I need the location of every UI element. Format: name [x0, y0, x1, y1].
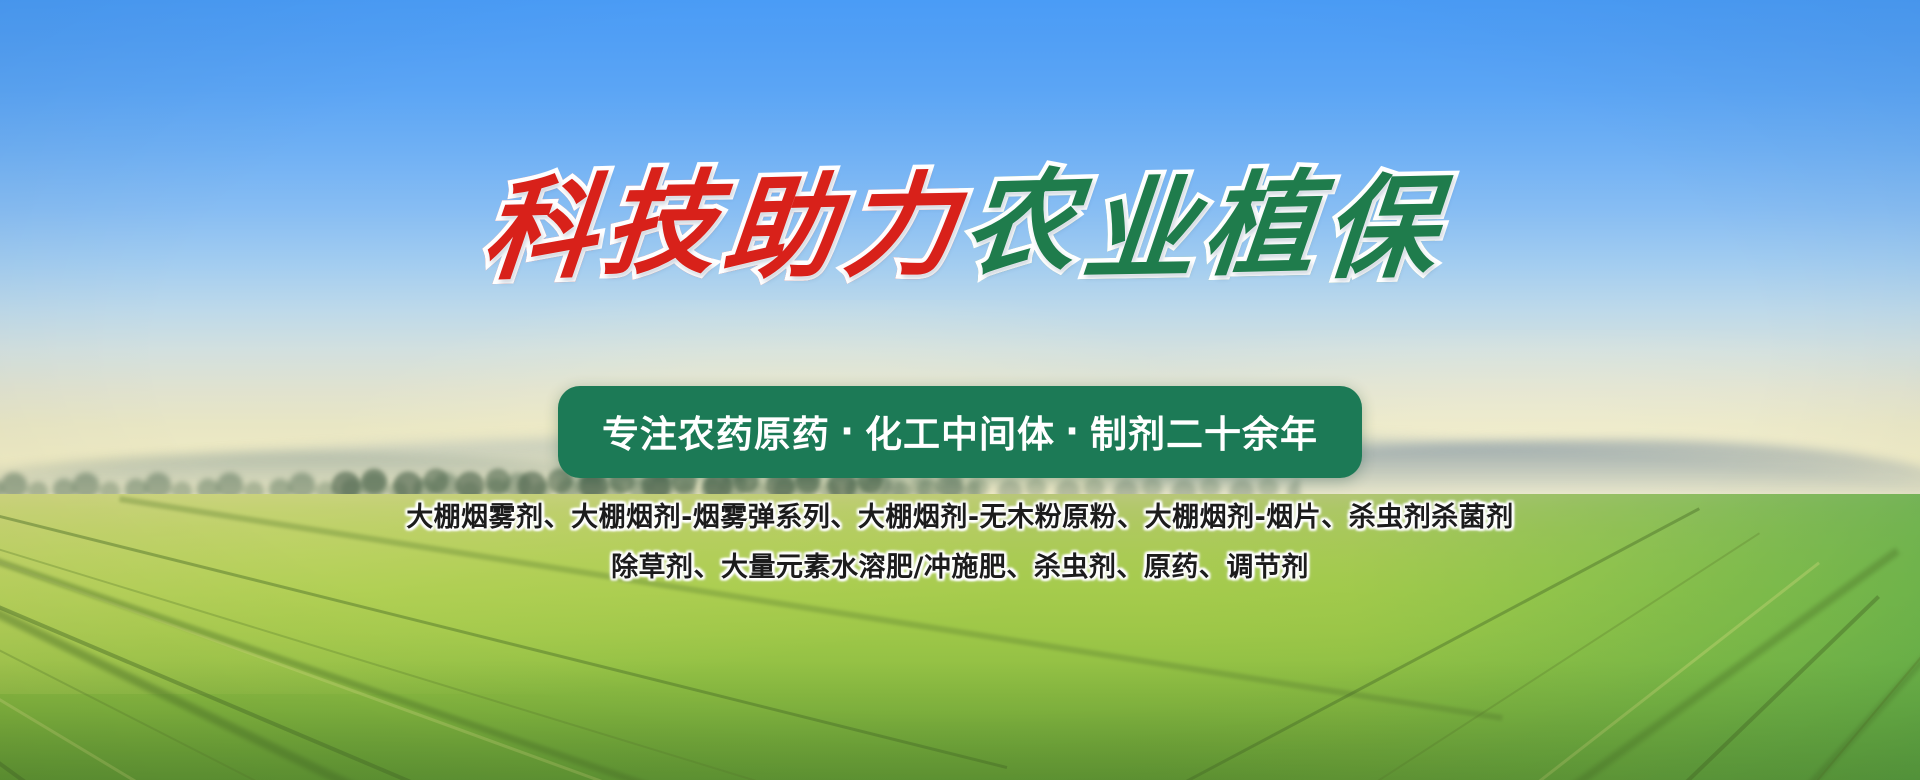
- banner-hero: 科技助力农业植保 专注农药原药·化工中间体·制剂二十余年 大棚烟雾剂、大棚烟剂-…: [0, 0, 1920, 780]
- bullet-separator-icon: ·: [840, 410, 855, 453]
- subtitle-segment: 化工中间体: [865, 413, 1055, 456]
- subtitle-pill: 专注农药原药·化工中间体·制剂二十余年: [558, 386, 1362, 478]
- farmland-field: [0, 494, 1920, 780]
- field-foreground-shadow: [0, 660, 1920, 780]
- subtitle-segment: 制剂二十余年: [1090, 413, 1318, 456]
- bullet-separator-icon: ·: [1065, 410, 1080, 453]
- subtitle-segment: 专注农药原药: [602, 413, 830, 456]
- subtitle-pill-wrapper: 专注农药原药·化工中间体·制剂二十余年: [0, 386, 1920, 478]
